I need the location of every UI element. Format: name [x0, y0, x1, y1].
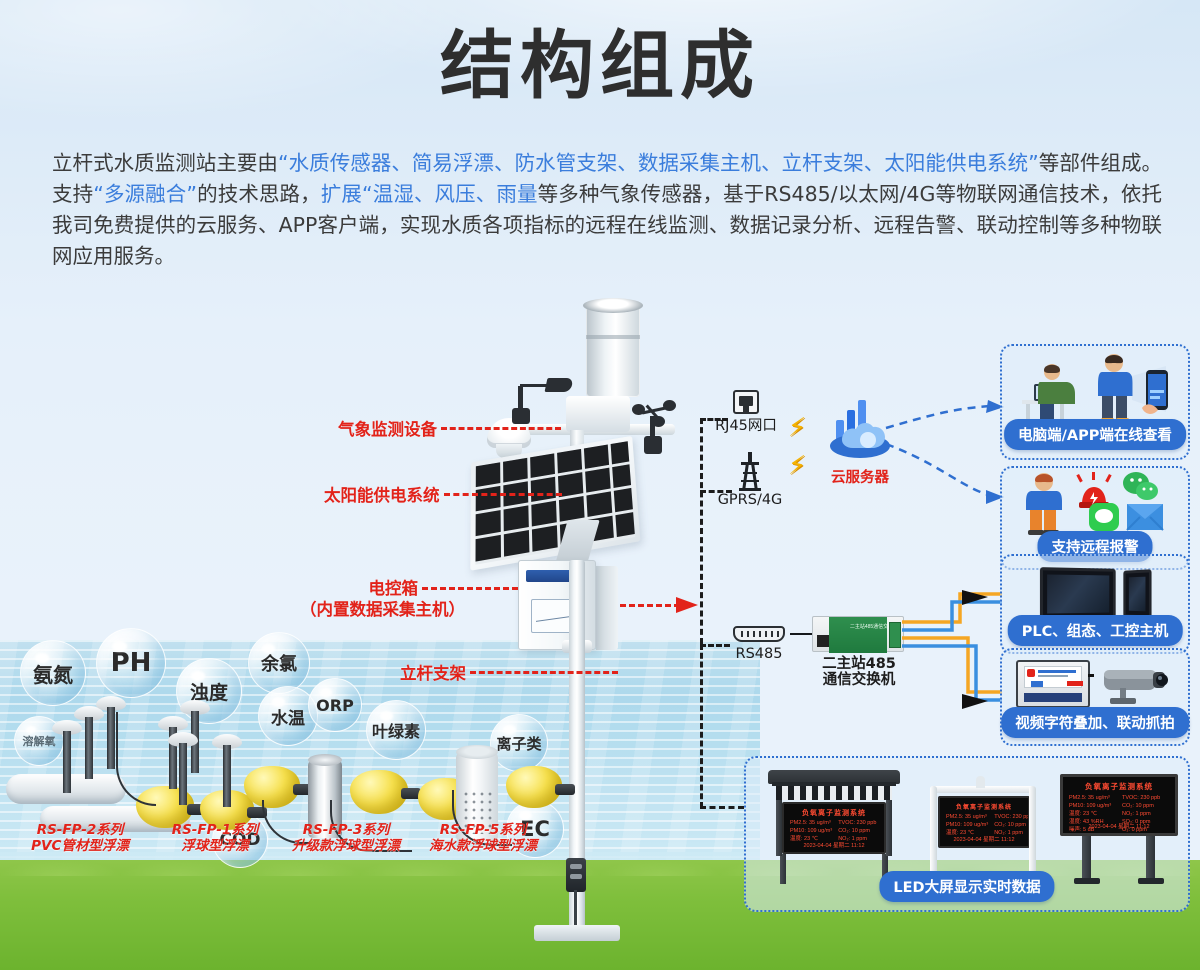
- control-box-side: [596, 566, 618, 650]
- led-kiosk-board: 负氧离子监测系统 PM2.5: 35 ug/m³TVOC: 230 ppb PM…: [768, 770, 900, 884]
- bubble-ph: PH: [96, 628, 166, 698]
- frame-led-rows: PM2.5: 35 ug/m³TVOC: 230 ppb PM10: 109 u…: [946, 814, 1022, 832]
- bubble-orp: ORP: [308, 678, 362, 732]
- caption-rs-fp-5: RS-FP-5系列 海水款浮球型浮漂: [406, 822, 560, 854]
- cloud-to-cards-curves: [880, 392, 1010, 512]
- person-at-computer-icon: [1016, 354, 1096, 422]
- card-caption-video: 视频字符叠加、联动抓拍: [1001, 707, 1189, 738]
- control-box-to-trunk-line: [620, 604, 680, 607]
- email-icon: [1126, 502, 1164, 532]
- label-solar-power-system: 太阳能供电系统: [324, 482, 562, 506]
- intro-highlight-sensors: 温湿、风压、雨量: [373, 182, 538, 206]
- trunk-to-led-vertical: [700, 644, 703, 808]
- led-frame-board: 负氧离子监测系统 PM2.5: 35 ug/m³TVOC: 230 ppb PM…: [922, 776, 1044, 884]
- rain-gauge: [586, 305, 640, 397]
- rj45-icon: [733, 390, 759, 414]
- rs485-label: RS485: [714, 646, 804, 662]
- caption-rs-fp-2: RS-FP-2系列 PVC管材型浮漂: [8, 822, 152, 854]
- osd-module-icon: [1016, 660, 1090, 708]
- label-control-box: 电控箱 （内置数据采集主机）: [286, 578, 518, 620]
- leader-dash: [441, 427, 561, 430]
- caption-rs-fp-3: RS-FP-3系列 升级款浮球型浮漂: [272, 822, 420, 854]
- rs485-connector-icon: [733, 626, 785, 642]
- caption-rs-fp-1: RS-FP-1系列 浮球型浮漂: [150, 822, 280, 854]
- card-caption-plc: PLC、组态、工控主机: [1008, 615, 1183, 646]
- bubble-turbidity: 浊度: [176, 658, 242, 724]
- intro-highlight-extend: 扩展: [321, 182, 362, 206]
- osd-to-camera-cable: [1088, 674, 1094, 677]
- sms-icon: [1088, 502, 1120, 532]
- label-weather-equipment: 气象监测设备: [338, 416, 561, 440]
- kiosk-led-rows: PM2.5: 35 ug/m³TVOC: 230 ppb PM10: 109 u…: [790, 820, 878, 838]
- card-caption-led: LED大屏显示实时数据: [879, 871, 1054, 902]
- leader-dash: [470, 671, 618, 674]
- intro-text-c: 的技术思路，: [197, 182, 321, 206]
- signal-bolt-1: ⚡: [788, 412, 806, 443]
- sensor-hub-box: [566, 396, 630, 432]
- pylon-led-rows: PM2.5: 35 ug/m³TVOC: 230 ppb PM10: 109 u…: [1069, 795, 1169, 819]
- led-pylon-board: 负氧离子监测系统 PM2.5: 35 ug/m³TVOC: 230 ppb PM…: [1060, 774, 1178, 884]
- industrial-monitor-side-icon: [1123, 569, 1151, 619]
- label-pole-bracket: 立杆支架: [400, 660, 618, 684]
- bubble-ion-class: 离子类: [490, 714, 548, 772]
- card-led-display[interactable]: 负氧离子监测系统 PM2.5: 35 ug/m³TVOC: 230 ppb PM…: [744, 756, 1190, 912]
- bubble-residual-chlorine: 余氯: [248, 632, 310, 694]
- page-title: 结构组成: [0, 26, 1200, 107]
- leader-dash: [444, 493, 562, 496]
- gprs-4g-label: GPRS/4G: [700, 492, 800, 508]
- intro-highlight-fusion: 多源融合: [104, 182, 187, 206]
- industrial-monitor-icon: [1040, 567, 1116, 621]
- rs485-to-switch-line: [790, 633, 814, 635]
- trunk-vertical-bus: [700, 418, 703, 644]
- intro-text-a: 立杆式水质监测站主要由: [52, 151, 278, 175]
- bubble-chlorophyll: 叶绿素: [366, 700, 426, 760]
- intro-quote-open-1: “: [278, 151, 289, 175]
- rs485-switch-device: 二主站485通信交换机: [812, 616, 904, 652]
- frame-led-title: 负氧离子监测系统: [940, 802, 1028, 811]
- red-arrow-head: [676, 595, 700, 615]
- person-alert-icon: [1016, 470, 1072, 536]
- kiosk-led-title: 负氧离子监测系统: [784, 808, 884, 818]
- infographic-page: 结构组成 立杆式水质监测站主要由“水质传感器、简易浮漂、防水管支架、数据采集主机…: [0, 0, 1200, 970]
- card-caption-pc-app: 电脑端/APP端在线查看: [1004, 419, 1186, 450]
- card-plc-scada-ipc[interactable]: PLC、组态、工控主机: [1000, 554, 1190, 654]
- pole-base-plate: [534, 925, 620, 941]
- cell-tower-icon: [733, 452, 767, 492]
- intro-paragraph: 立杆式水质监测站主要由“水质传感器、简易浮漂、防水管支架、数据采集主机、立杆支架…: [52, 148, 1162, 272]
- intro-quote-close-2: ”: [186, 182, 197, 206]
- bubble-ammonia-nitrogen: 氨氮: [20, 640, 86, 706]
- pylon-led-title: 负氧离子监测系统: [1063, 781, 1175, 792]
- card-pc-app-online[interactable]: 电脑端/APP端在线查看: [1000, 344, 1190, 460]
- wind-direction-vane: [520, 378, 572, 394]
- intro-quote-open-3: “: [362, 182, 373, 206]
- anemometer: [632, 400, 678, 448]
- intro-quote-open-2: “: [93, 182, 104, 206]
- inline-sensor-node: [566, 858, 586, 892]
- intro-highlight-components: 水质传感器、简易浮漂、防水管支架、数据采集主机、立杆支架、太阳能供电系统: [289, 151, 1029, 175]
- label-control-box-sub: （内置数据采集主机）: [286, 599, 518, 620]
- trunk-to-led-horizontal: [700, 806, 744, 809]
- intro-quote-close-1: ”: [1028, 151, 1039, 175]
- leader-dash: [422, 587, 518, 590]
- rj45-label: RJ45网口: [700, 414, 792, 435]
- cctv-camera-icon: [1098, 660, 1182, 714]
- wechat-icon: [1122, 470, 1158, 502]
- person-with-phone-icon: [1088, 350, 1174, 426]
- card-video-osd-capture[interactable]: 视频字符叠加、联动抓拍: [1000, 648, 1190, 746]
